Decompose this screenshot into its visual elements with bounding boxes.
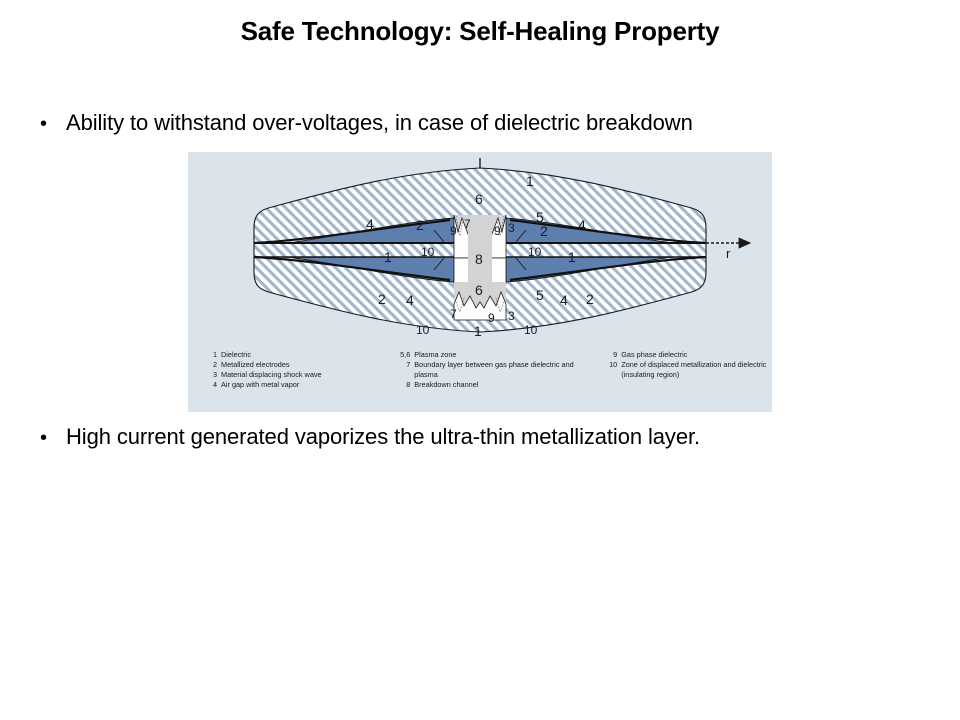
legend-item: 8 Breakdown channel [393,380,598,390]
callout-top-right-gas-phase: 9 [494,224,501,238]
legend-item: 9 Gas phase dielectric [600,350,772,360]
legend-item: 4 Air gap with metal vapor [200,380,391,390]
bullet-item-1: • Ability to withstand over-voltages, in… [40,110,693,136]
legend-text: Zone of displaced metallization and diel… [621,360,772,379]
callout-top-right-electrode: 2 [540,223,548,239]
callout-top-right-zone10: 10 [528,245,542,259]
callout-bottom-left-air-gap: 4 [406,292,414,308]
callout-breakdown-channel: 8 [475,251,483,267]
legend-text: Plasma zone [414,350,598,360]
legend-item: 1 Dielectric [200,350,391,360]
legend-number: 4 [200,380,221,390]
legend-text: Air gap with metal vapor [221,380,391,390]
legend-number: 5,6 [393,350,414,360]
legend-item: 7 Boundary layer between gas phase diele… [393,360,598,379]
callout-bottom-plasma: 6 [475,282,483,298]
legend-number: 2 [200,360,221,370]
legend-number: 1 [200,350,221,360]
legend-text: Breakdown channel [414,380,598,390]
legend-text: Dielectric [221,350,391,360]
callout-top-plasma: 6 [475,191,483,207]
legend-number: 10 [600,360,621,370]
callout-bottom-right-zone10: 10 [524,323,538,337]
callout-mid-left-dielectric: 1 [384,249,392,265]
callout-top-shock-wave: 3 [508,221,515,235]
legend-item: 10 Zone of displaced metallization and d… [600,360,772,379]
self-healing-diagram: r 1 4 2 6 9 7 9 3 5 4 2 10 10 1 1 8 6 2 … [188,152,772,348]
legend-column-1: 1 Dielectric 2 Metallized electrodes 3 M… [188,350,391,412]
page-title: Safe Technology: Self-Healing Property [0,16,960,47]
legend-item: 2 Metallized electrodes [200,360,391,370]
bullet-marker: • [40,428,66,448]
legend-number: 7 [393,360,414,370]
legend-number: 8 [393,380,414,390]
slide-canvas: Safe Technology: Self-Healing Property •… [0,0,960,720]
callout-top-dielectric: 1 [526,173,534,189]
callout-top-left-air-gap: 4 [366,216,374,232]
callout-bottom-gas-phase: 9 [488,311,495,325]
callout-top-right-air-gap: 4 [578,217,586,233]
legend-column-3: 9 Gas phase dielectric 10 Zone of displa… [598,350,772,412]
bullet-item-2: • High current generated vaporizes the u… [40,424,700,450]
callout-mid-right-dielectric: 1 [568,249,576,265]
bullet-text: Ability to withstand over-voltages, in c… [66,110,693,136]
legend-item: 3 Material displacing shock wave [200,370,391,380]
callout-top-left-gas-phase: 9 [450,224,457,238]
bullet-text: High current generated vaporizes the ult… [66,424,700,450]
legend-column-2: 5,6 Plasma zone 7 Boundary layer between… [391,350,598,412]
legend-text: Gas phase dielectric [621,350,772,360]
bullet-marker: • [40,114,66,134]
legend-text: Boundary layer between gas phase dielect… [414,360,598,379]
callout-top-left-electrode: 2 [416,217,424,233]
legend-text: Metallized electrodes [221,360,391,370]
callout-bottom-dielectric: 1 [474,323,482,339]
callout-bottom-shock-wave: 3 [508,309,515,323]
legend-item: 5,6 Plasma zone [393,350,598,360]
callout-bottom-right-electrode: 2 [586,291,594,307]
callout-bottom-right-plasma-edge: 5 [536,287,544,303]
callout-top-left-zone10: 10 [421,245,435,259]
callout-bottom-right-air-gap: 4 [560,292,568,308]
callout-bottom-left-electrode: 2 [378,291,386,307]
callout-top-boundary-layer: 7 [464,217,471,231]
legend-number: 9 [600,350,621,360]
diagram-legend: 1 Dielectric 2 Metallized electrodes 3 M… [188,350,772,412]
callout-bottom-boundary-layer: 7 [450,307,457,321]
legend-text: Material displacing shock wave [221,370,391,380]
axis-label-r: r [726,246,731,261]
legend-number: 3 [200,370,221,380]
callout-bottom-left-zone10: 10 [416,323,430,337]
self-healing-diagram-panel: r 1 4 2 6 9 7 9 3 5 4 2 10 10 1 1 8 6 2 … [188,152,772,412]
